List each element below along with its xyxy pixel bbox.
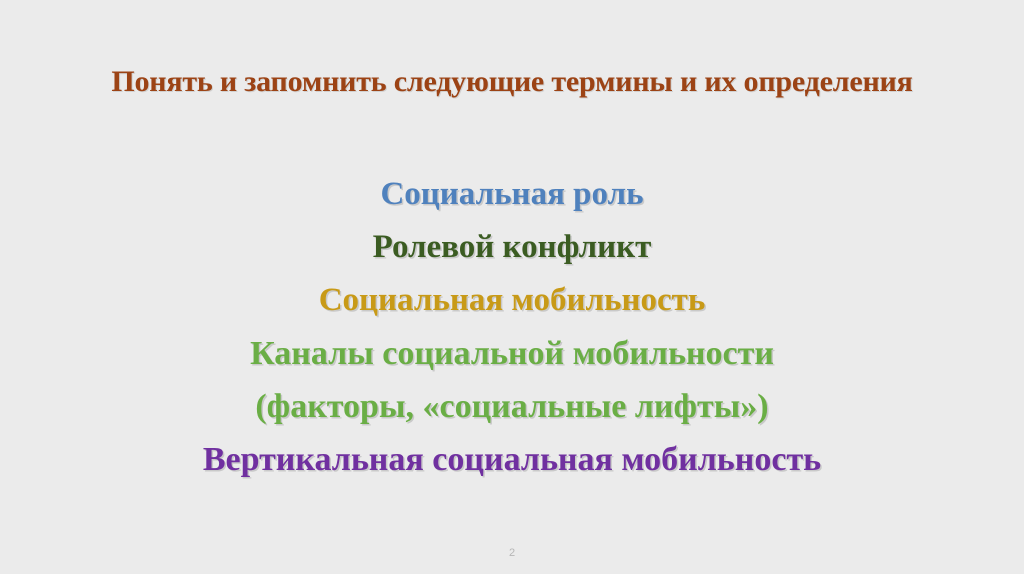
term-line-role-conflict: Ролевой конфликт bbox=[0, 221, 1024, 274]
term-line-vertical-social-mobility: Вертикальная социальная мобильность bbox=[0, 433, 1024, 486]
term-line-mobility-factors: (факторы, «социальные лифты») bbox=[0, 380, 1024, 433]
term-line-social-role: Социальная роль bbox=[0, 168, 1024, 221]
term-line-mobility-channels: Каналы социальной мобильности bbox=[0, 327, 1024, 380]
presentation-slide: Понять и запомнить следующие термины и и… bbox=[0, 0, 1024, 574]
slide-title: Понять и запомнить следующие термины и и… bbox=[0, 64, 1024, 100]
page-number: 2 bbox=[0, 546, 1024, 560]
term-line-social-mobility: Социальная мобильность bbox=[0, 274, 1024, 327]
term-list: Социальная роль Ролевой конфликт Социаль… bbox=[0, 168, 1024, 486]
